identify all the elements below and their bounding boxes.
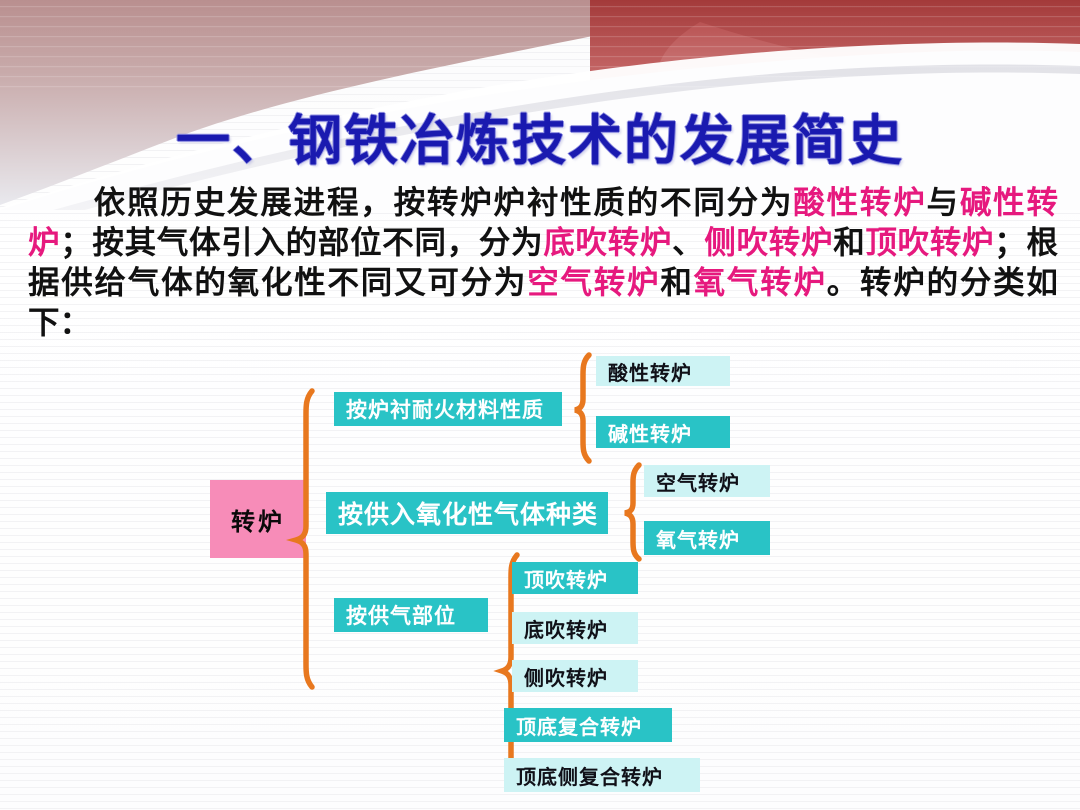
brace-branch-1 <box>572 352 598 464</box>
paragraph-highlight: 底吹转炉 <box>543 225 672 261</box>
diagram-leaf-2-2[interactable]: 氧气转炉 <box>644 521 770 555</box>
paragraph-run: ；按其气体引入的部位不同，分为 <box>60 225 543 261</box>
diagram-branch-1[interactable]: 按炉衬耐火材料性质 <box>334 392 562 426</box>
brace-root <box>292 388 322 690</box>
diagram-branch-2[interactable]: 按供入氧化性气体种类 <box>326 492 608 534</box>
paragraph-run: 依照历史发展进程，按转炉炉衬性质的不同分为 <box>92 185 793 221</box>
diagram-leaf-1-2[interactable]: 碱性转炉 <box>596 416 730 448</box>
paragraph-text: 依照历史发展进程，按转炉炉衬性质的不同分为酸性转炉与碱性转炉；按其气体引入的部位… <box>28 185 1058 341</box>
paragraph-run: 、 <box>672 225 704 261</box>
paragraph-highlight: 空气转炉 <box>527 265 660 301</box>
paragraph-run: 与 <box>927 185 960 221</box>
paragraph-run: 和 <box>833 225 865 261</box>
diagram-branch-3[interactable]: 按供气部位 <box>334 598 488 632</box>
classification-diagram: 转炉 按炉衬耐火材料性质 酸性转炉 碱性转炉 按供入氧化性气体种类 空气转炉 氧… <box>0 340 1080 810</box>
diagram-leaf-3-2[interactable]: 底吹转炉 <box>512 612 638 644</box>
paragraph-highlight: 氧气转炉 <box>694 265 827 301</box>
paragraph-highlight: 侧吹转炉 <box>704 225 833 261</box>
slide-canvas: 一、钢铁冶炼技术的发展简史 依照历史发展进程，按转炉炉衬性质的不同分为酸性转炉与… <box>0 0 1080 810</box>
diagram-leaf-2-1[interactable]: 空气转炉 <box>644 465 770 497</box>
diagram-leaf-1-1[interactable]: 酸性转炉 <box>596 356 730 386</box>
diagram-leaf-3-1[interactable]: 顶吹转炉 <box>512 562 638 594</box>
paragraph-highlight: 酸性转炉 <box>793 185 926 221</box>
intro-paragraph: 依照历史发展进程，按转炉炉衬性质的不同分为酸性转炉与碱性转炉；按其气体引入的部位… <box>28 183 1058 343</box>
paragraph-highlight: 顶吹转炉 <box>865 225 994 261</box>
diagram-leaf-3-3[interactable]: 侧吹转炉 <box>512 660 638 692</box>
paragraph-run: 和 <box>660 265 693 301</box>
page-title: 一、钢铁冶炼技术的发展简史 <box>0 96 1080 175</box>
diagram-leaf-3-5[interactable]: 顶底侧复合转炉 <box>504 758 700 792</box>
diagram-leaf-3-4[interactable]: 顶底复合转炉 <box>504 708 672 742</box>
